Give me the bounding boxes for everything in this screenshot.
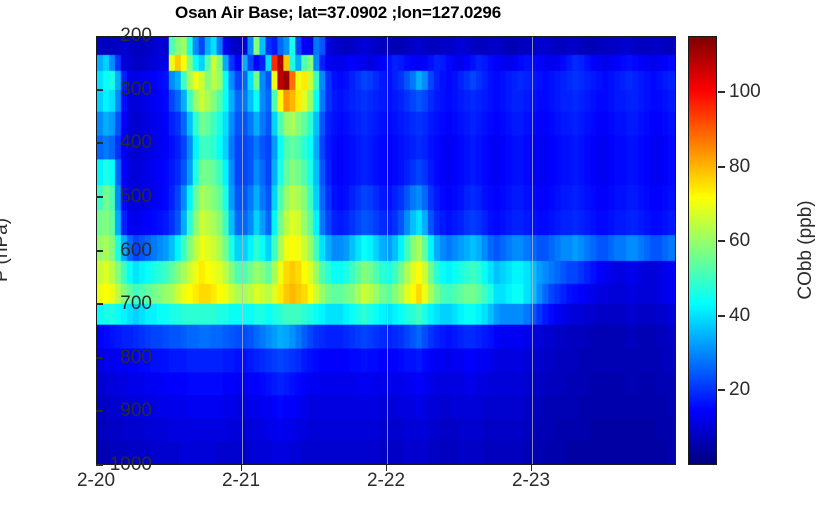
x-tick-label-2-21: 2-21 — [222, 470, 260, 492]
heatmap-canvas[interactable] — [97, 37, 675, 464]
y-tick-mark — [96, 142, 103, 144]
y-tick-mark — [96, 464, 103, 466]
y-tick-mark — [96, 303, 103, 305]
colorbar[interactable] — [688, 36, 717, 465]
colorbar-tick-label-20: 20 — [729, 379, 750, 401]
figure-container: Osan Air Base; lat=37.0902 ;lon=127.0296… — [0, 0, 833, 521]
x-tick-mark — [386, 465, 387, 471]
y-tick-mark — [96, 357, 103, 359]
y-tick-label-1000: 1000 — [110, 454, 152, 476]
y-tick-label-800: 800 — [120, 347, 152, 369]
colorbar-tick-mark — [718, 91, 725, 93]
colorbar-tick-label-100: 100 — [729, 81, 761, 103]
chart-title: Osan Air Base; lat=37.0902 ;lon=127.0296 — [0, 3, 676, 23]
colorbar-tick-mark — [718, 389, 725, 391]
colorbar-tick-label-40: 40 — [729, 305, 750, 327]
colorbar-tick-label-60: 60 — [729, 230, 750, 252]
y-axis-label: P (hPa) — [0, 165, 13, 335]
x-tick-mark — [531, 465, 532, 471]
colorbar-tick-mark — [718, 166, 725, 168]
colorbar-tick-label-80: 80 — [729, 156, 750, 178]
x-tick-label-2-20: 2-20 — [77, 470, 115, 492]
y-tick-mark — [96, 196, 103, 198]
y-tick-label-200: 200 — [120, 25, 152, 47]
colorbar-label: CObb (ppb) — [795, 150, 817, 350]
y-tick-label-400: 400 — [120, 132, 152, 154]
colorbar-tick-mark — [718, 240, 725, 242]
heatmap-axes[interactable] — [96, 36, 676, 465]
x-tick-label-2-22: 2-22 — [367, 470, 405, 492]
colorbar-gradient — [689, 37, 716, 464]
x-tick-mark — [241, 465, 242, 471]
y-tick-label-700: 700 — [120, 293, 152, 315]
y-tick-mark — [96, 410, 103, 412]
y-tick-label-500: 500 — [120, 186, 152, 208]
y-tick-mark — [96, 250, 103, 252]
colorbar-tick-mark — [718, 315, 725, 317]
y-tick-label-300: 300 — [120, 79, 152, 101]
y-tick-mark — [96, 89, 103, 91]
y-tick-label-900: 900 — [120, 400, 152, 422]
y-tick-label-600: 600 — [120, 240, 152, 262]
x-tick-label-2-23: 2-23 — [512, 470, 550, 492]
